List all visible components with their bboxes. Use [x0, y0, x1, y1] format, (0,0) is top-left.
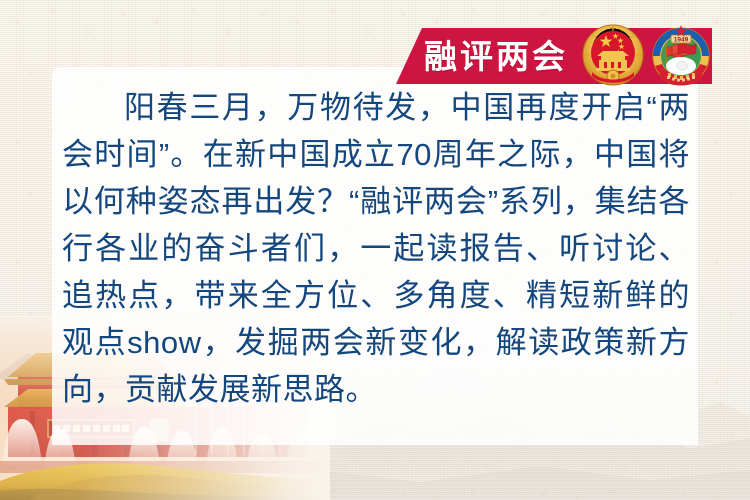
cppcc-emblem-icon: 1949 — [648, 22, 714, 90]
national-emblem-of-china-icon — [580, 22, 646, 88]
article-paragraph: 阳春三月，万物待发，中国再度开启“两会时间”。在新中国成立70周年之际，中国将以… — [62, 84, 690, 413]
article-body: 阳春三月，万物待发，中国再度开启“两会时间”。在新中国成立70周年之际，中国将以… — [62, 84, 690, 413]
cppcc-year: 1949 — [674, 37, 689, 44]
banner-title: 融评两会 — [424, 28, 568, 84]
poster-root: 融评两会 — [0, 0, 750, 500]
